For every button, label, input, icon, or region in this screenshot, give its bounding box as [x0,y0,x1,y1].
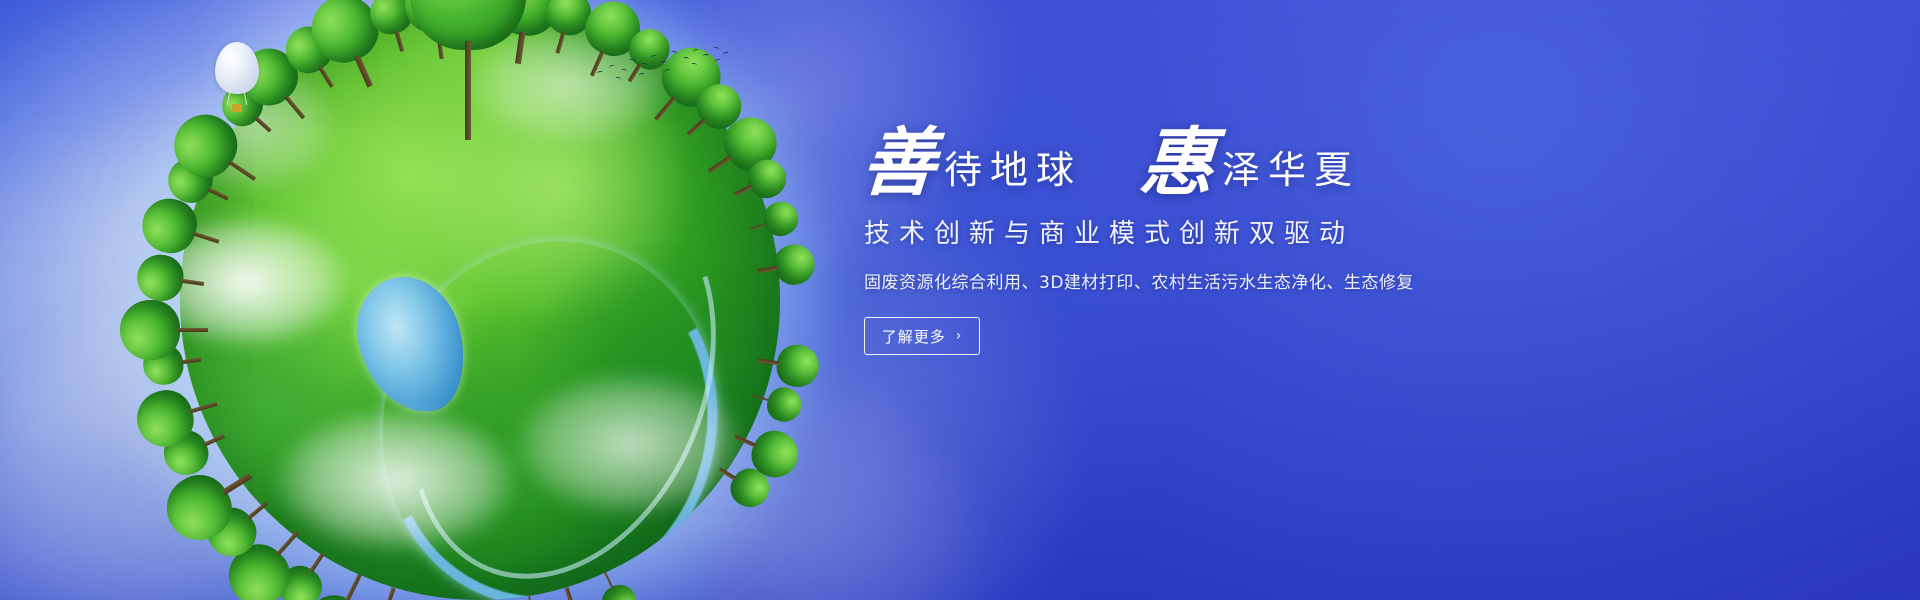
bird [713,46,720,51]
bird [629,58,636,63]
bird [723,52,729,57]
bird [703,54,709,58]
tree-trunk [465,41,472,141]
description: 固废资源化综合利用、3D建材打印、农村生活污水生态净化、生态修复 [864,268,1682,293]
bird [597,71,603,76]
rim-tree [774,342,821,389]
tree-crown [120,300,180,360]
tree-crown [134,252,186,304]
bird [641,63,647,67]
bird [692,48,699,54]
headline-char-shan: 善 [860,128,939,199]
rim-tree [134,252,186,304]
headline-char-hui: 惠 [1138,128,1217,199]
bird [639,73,645,78]
bird [671,50,678,55]
subtitle: 技术创新与商业模式创新双驱动 [864,213,1682,250]
headline-text-zehuaxia: 泽华夏 [1214,151,1360,199]
bird [715,58,722,63]
balloon-basket [232,104,242,112]
bird [683,57,689,61]
headline-text-daidiqiu: 待地球 [936,151,1082,199]
learn-more-label: 了解更多 [882,326,946,347]
tree-crown [774,342,821,389]
learn-more-button[interactable]: 了解更多 › [864,317,980,355]
bird [608,64,615,70]
bird [661,61,667,65]
bird [691,63,698,68]
balloon-rope [244,92,247,105]
hot-air-balloon-icon [215,42,259,116]
hero-tree [410,0,526,50]
bird [664,68,671,74]
banner-copy: 善 待地球 惠 泽华夏 技术创新与商业模式创新双驱动 固废资源化综合利用、3D建… [862,128,1682,355]
chevron-right-icon: › [956,329,963,343]
bird-flock [595,45,735,90]
rim-tree [772,241,818,287]
hero-banner: 善 待地球 惠 泽华夏 技术创新与商业模式创新双驱动 固废资源化综合利用、3D建… [0,0,1920,600]
tree-trunk [178,328,208,333]
globe-cloud [516,372,744,516]
bird [650,54,657,60]
rim-tree [120,300,180,360]
balloon-envelope [215,42,259,94]
bird [621,69,628,74]
tree-crown [772,241,818,287]
globe-cloud [276,408,516,552]
headline: 善 待地球 惠 泽华夏 [862,128,1682,199]
balloon-rope [227,92,230,105]
bird [615,76,622,81]
